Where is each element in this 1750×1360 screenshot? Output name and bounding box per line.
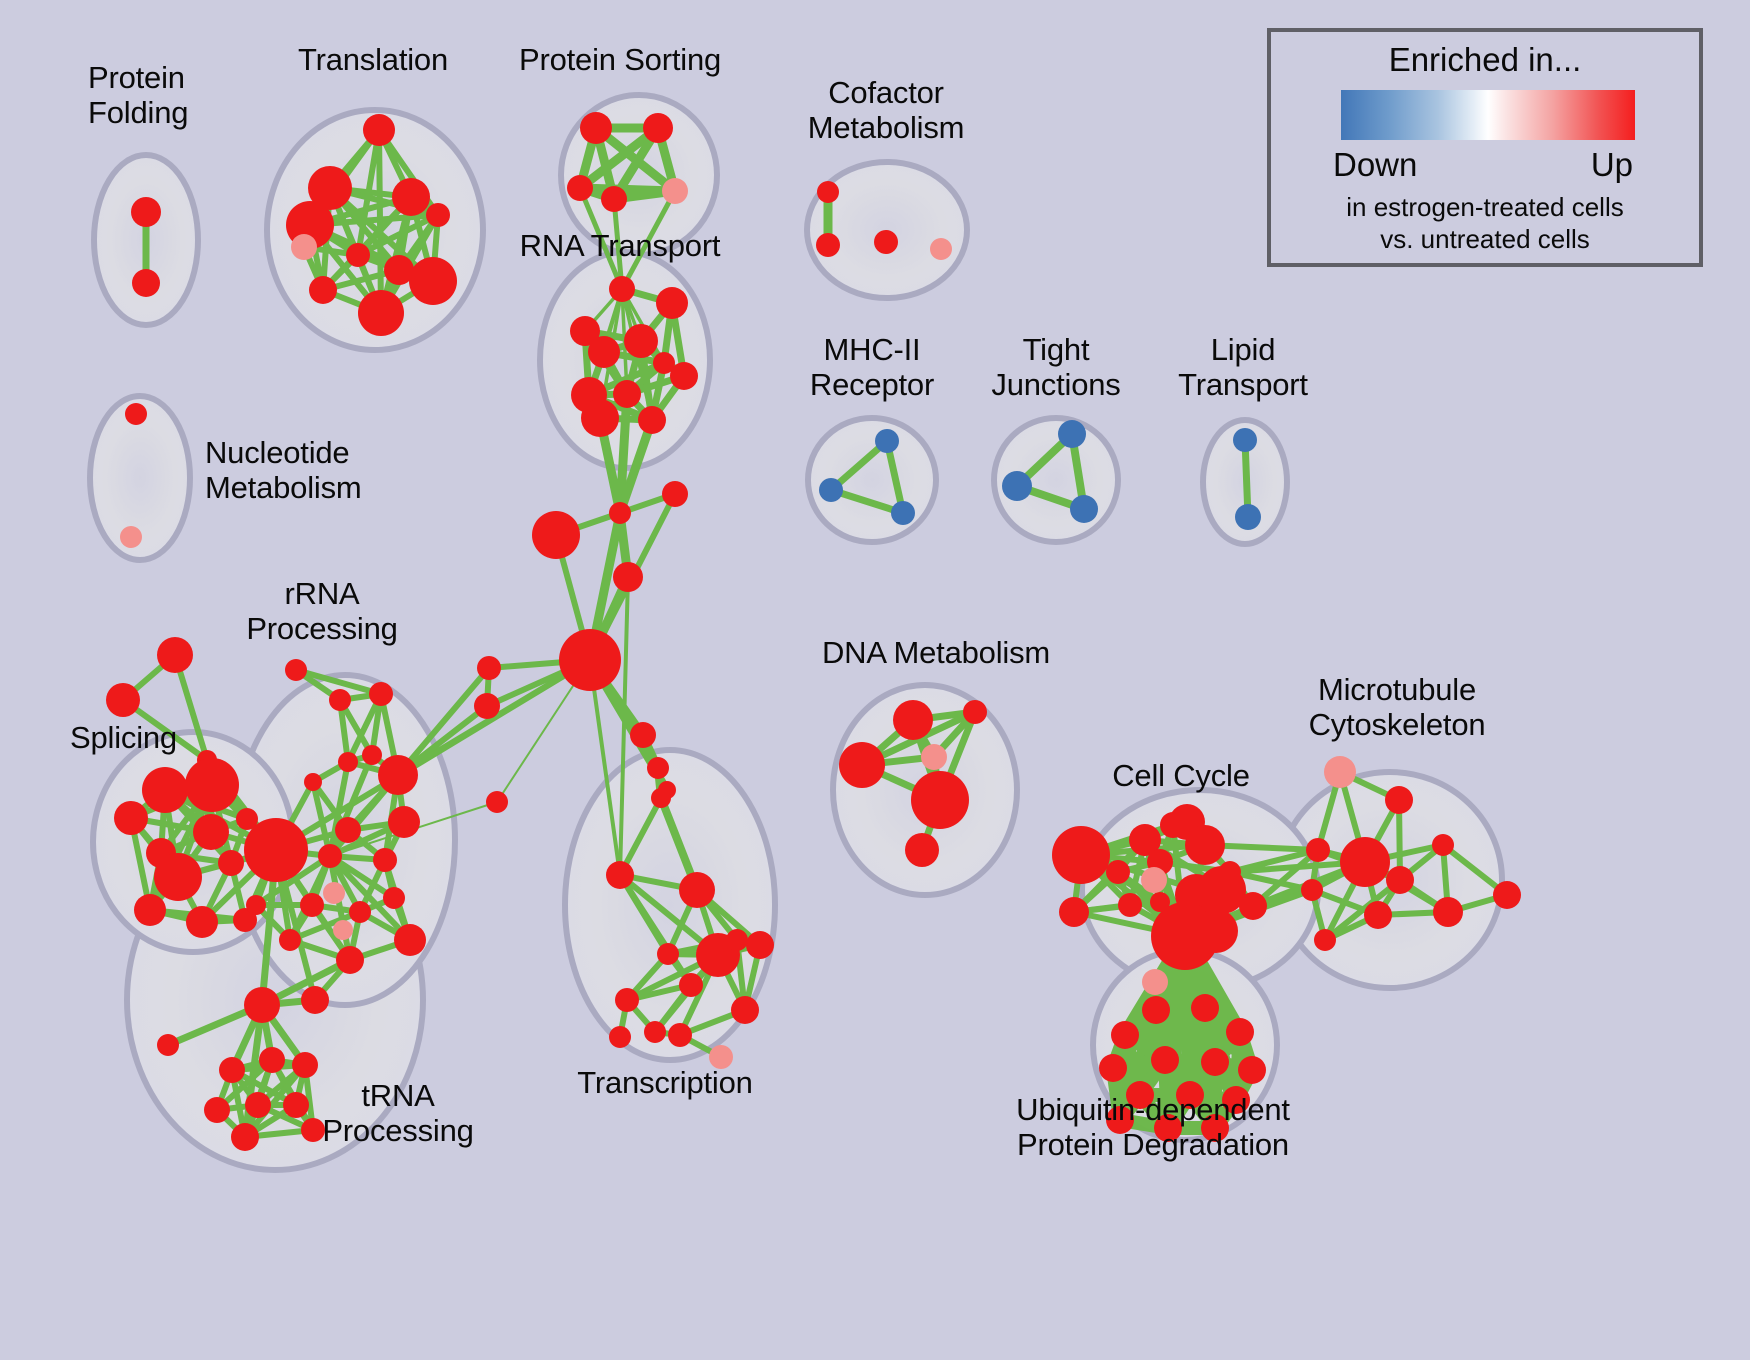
- legend-high-label: Up: [1591, 146, 1633, 184]
- color-legend: Enriched in... Down Up in estrogen-treat…: [1267, 28, 1703, 267]
- legend-caption: in estrogen-treated cells vs. untreated …: [1271, 192, 1699, 255]
- enrichment-map-figure: Protein Folding Translation Protein Sort…: [0, 0, 1750, 1360]
- legend-title: Enriched in...: [1271, 41, 1699, 79]
- legend-color-gradient-bar: [1341, 90, 1635, 140]
- legend-low-label: Down: [1333, 146, 1417, 184]
